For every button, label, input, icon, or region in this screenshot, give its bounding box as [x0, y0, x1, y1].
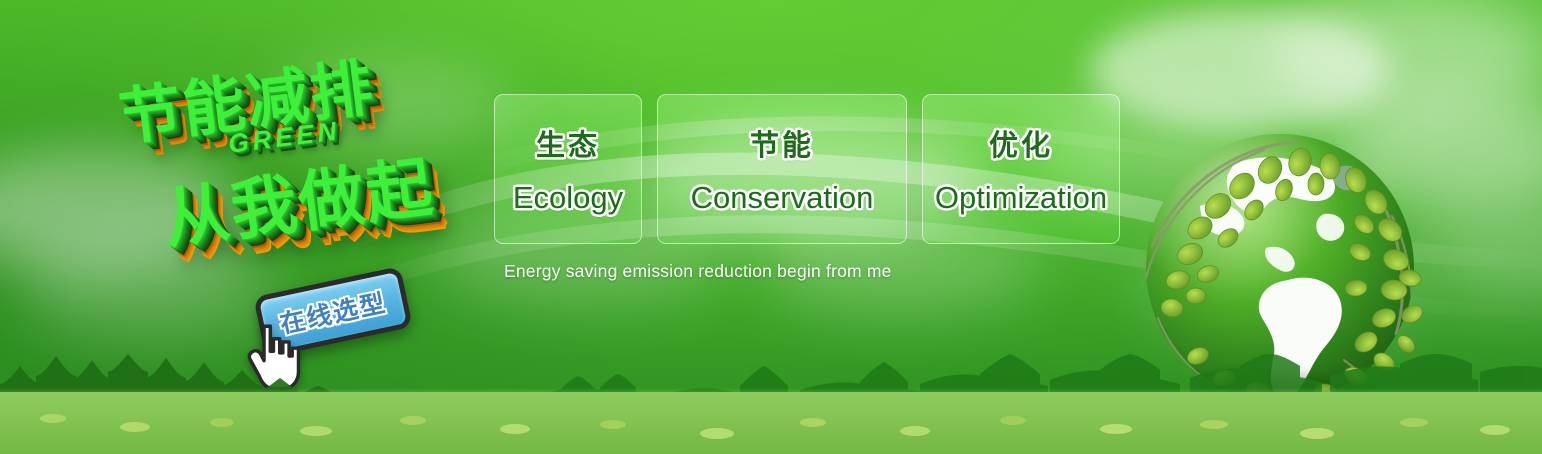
feature-card-en-label: Conservation — [691, 180, 874, 216]
tagline-text: Energy saving emission reduction begin f… — [504, 261, 892, 282]
headline-line-2: 从我做起 — [157, 134, 439, 262]
eco-banner: 节能减排 GREEN 从我做起 在线选型 生态 Ecology 节能 Conse… — [0, 0, 1542, 454]
grass-field-icon — [0, 392, 1542, 454]
feature-card-en-label: Optimization — [935, 180, 1107, 216]
feature-card-list: 生态 Ecology 节能 Conservation 优化 Optimizati… — [494, 94, 1120, 244]
feature-card-en-label: Ecology — [513, 180, 623, 216]
feature-card-optimization[interactable]: 优化 Optimization — [922, 94, 1120, 244]
feature-card-cn-label: 优化 — [989, 122, 1053, 164]
feature-card-ecology[interactable]: 生态 Ecology — [494, 94, 642, 244]
feature-card-conservation[interactable]: 节能 Conservation — [657, 94, 907, 244]
feature-card-cn-label: 生态 — [536, 122, 600, 164]
feature-card-cn-label: 节能 — [750, 122, 814, 164]
headline-3d: 节能减排 GREEN 从我做起 — [100, 40, 500, 270]
